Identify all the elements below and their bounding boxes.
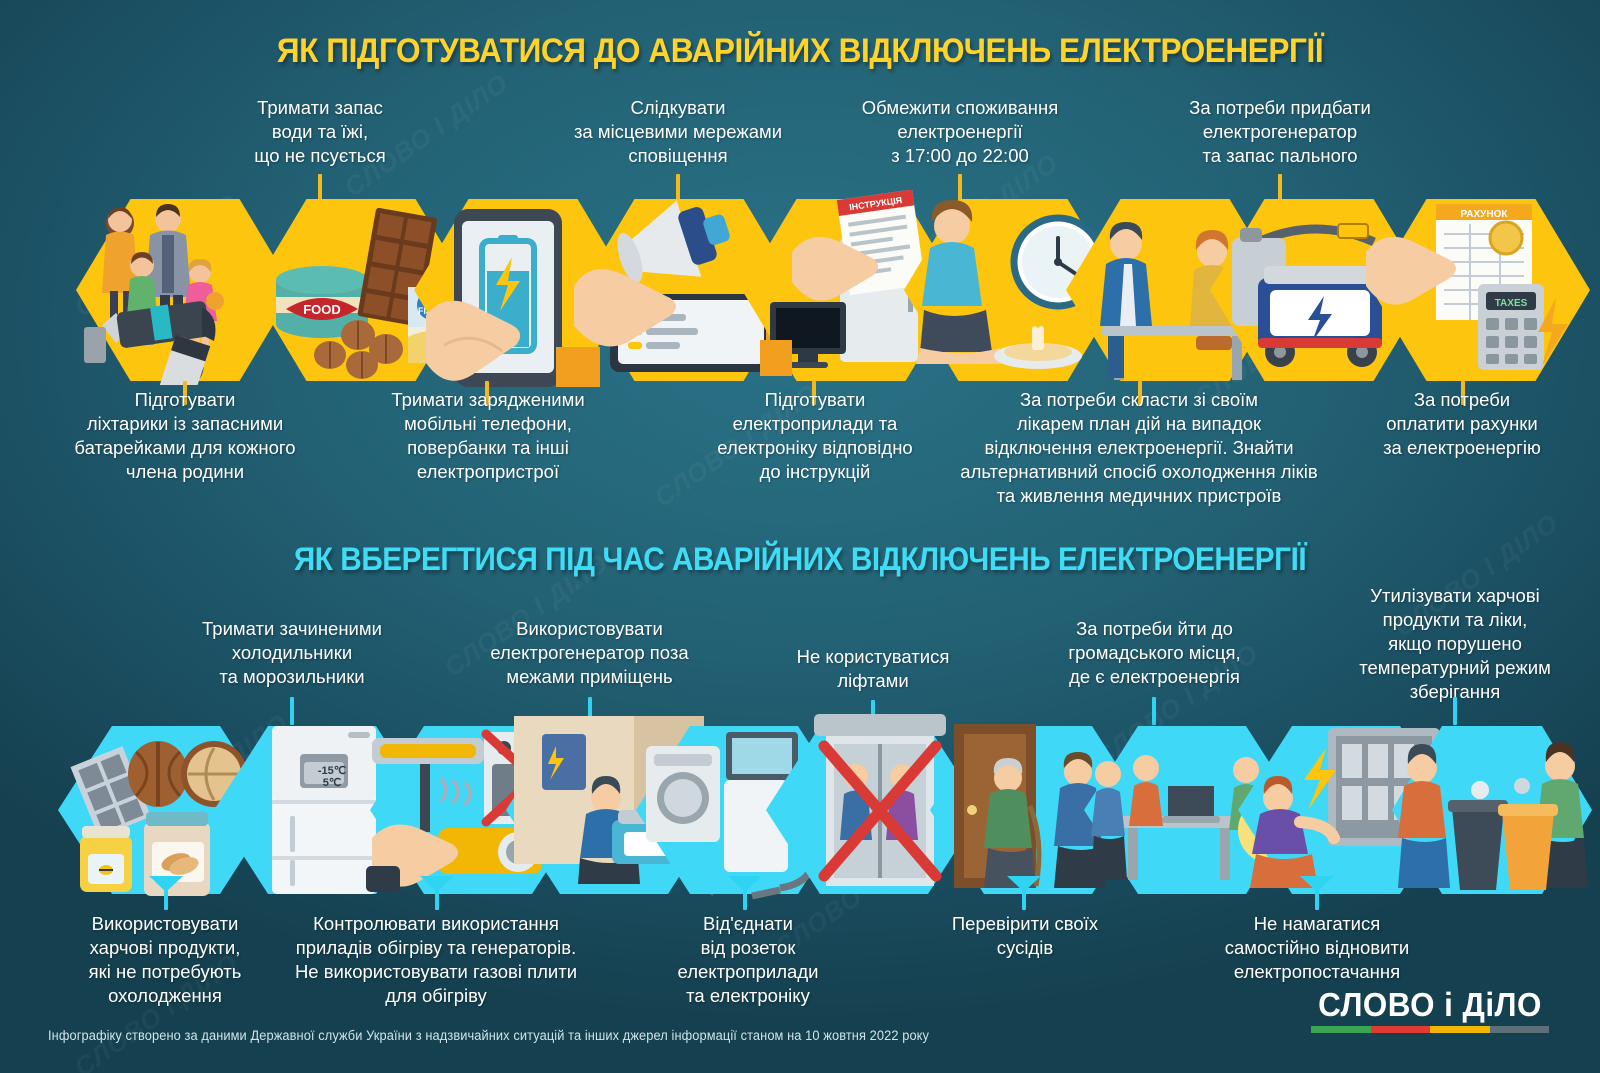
caption-medical-plan: За потреби скласти зі своїм лікарем план…: [900, 388, 1378, 508]
page-title-prepare: ЯК ПІДГОТУВАТИСЯ ДО АВАРІЙНИХ ВІДКЛЮЧЕНЬ…: [56, 32, 1544, 71]
connector-stem: [1315, 890, 1319, 910]
caption-no-elevators: Не користуватися ліфтами: [758, 645, 988, 693]
caption-check-neighbours: Перевірити своїх сусідів: [912, 912, 1138, 960]
connector-stem: [1453, 697, 1457, 725]
brand-logo[interactable]: СЛОВО і ДіЛО: [1296, 988, 1564, 1033]
caption-flashlights-batteries: Підготувати ліхтарики із запасними батар…: [40, 388, 330, 484]
caption-control-heating: Контролювати використання приладів обігр…: [256, 912, 616, 1008]
caption-follow-local-alerts: Слідкувати за місцевими мережами сповіще…: [523, 96, 833, 168]
caption-limit-consumption: Обмежити споживання електроенергії з 17:…: [810, 96, 1110, 168]
logo-color-bars: [1311, 1026, 1549, 1033]
logo-text: СЛОВО і ДіЛО: [1303, 988, 1558, 1021]
connector-stem: [588, 697, 592, 725]
caption-keep-fridge-closed: Тримати зачиненими холодильники та мороз…: [152, 617, 432, 689]
caption-public-place: За потреби йти до громадського місця, де…: [1032, 617, 1277, 689]
connector-stem: [958, 174, 962, 200]
connector-stem: [164, 890, 168, 910]
connector-stem: [435, 890, 439, 910]
connector-stem: [676, 174, 680, 200]
caption-dispose-food: Утилізувати харчові продукти та ліки, як…: [1324, 584, 1586, 704]
caption-unplug-devices: Від'єднати від розеток електроприлади та…: [638, 912, 858, 1008]
logo-bar-green: [1311, 1026, 1371, 1033]
caption-buy-generator: За потреби придбати електрогенератор та …: [1135, 96, 1425, 168]
footer-note: Інфографіку створено за даними Державної…: [48, 1028, 929, 1043]
logo-bar-gray: [1490, 1026, 1550, 1033]
connector-stem: [1022, 890, 1026, 910]
caption-generator-outdoors: Використовувати електрогенератор поза ме…: [452, 617, 727, 689]
page-title-protect: ЯК ВБЕРЕГТИСЯ ПІД ЧАС АВАРІЙНИХ ВІДКЛЮЧЕ…: [56, 541, 1544, 578]
hex-tile-bills: [1372, 199, 1590, 381]
connector-stem: [871, 700, 875, 726]
caption-keep-water-food: Тримати запас води та їжі, що не псуєтьс…: [180, 96, 460, 168]
caption-pay-bills: За потреби оплатити рахунки за електроен…: [1352, 388, 1572, 460]
logo-bar-yellow: [1430, 1026, 1490, 1033]
connector-stem: [1152, 697, 1156, 725]
connector-stem: [743, 890, 747, 910]
infographic-page: СЛОВО І ДІЛО СЛОВО І ДІЛО СЛОВО І ДІЛО С…: [0, 0, 1600, 1073]
logo-bar-red: [1371, 1026, 1431, 1033]
connector-stem: [318, 174, 322, 200]
hex-tile-dispose: [1392, 726, 1592, 894]
caption-no-self-repair: Не намагатися самостійно відновити елект…: [1192, 912, 1442, 984]
caption-charged-phones: Тримати зарядженими мобільні телефони, п…: [343, 388, 633, 484]
connector-stem: [1278, 174, 1282, 200]
connector-stem: [290, 697, 294, 725]
